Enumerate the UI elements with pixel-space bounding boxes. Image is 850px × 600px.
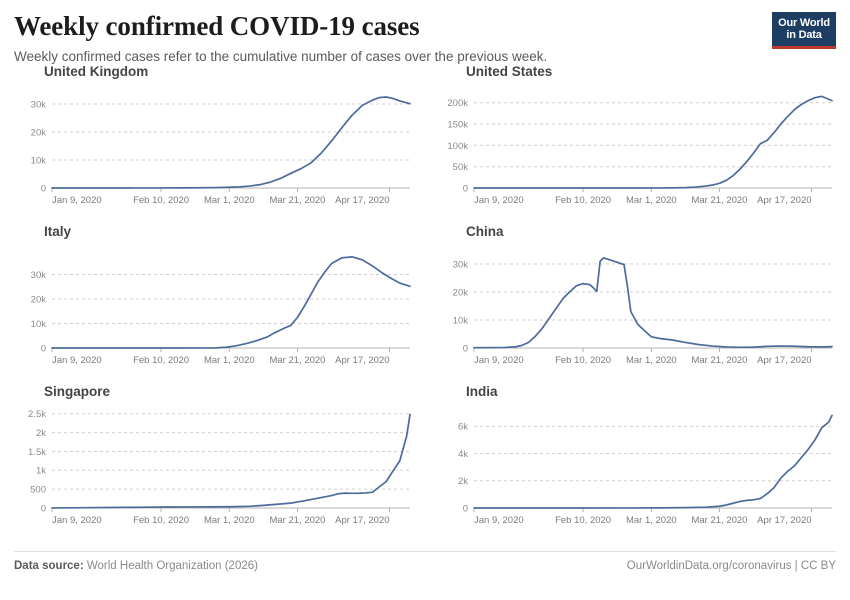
x-tick-label: Feb 10, 2020 — [133, 195, 189, 206]
y-tick-label: 6k — [458, 422, 468, 433]
series-line — [474, 97, 832, 189]
plot-area: 010k20k30kJan 9, 2020Feb 10, 2020Mar 1, … — [436, 242, 836, 370]
y-tick-label: 30k — [31, 100, 47, 111]
x-tick-label: Mar 1, 2020 — [204, 515, 255, 526]
x-tick-label: Apr 17, 2020 — [757, 515, 811, 526]
x-tick-label: Feb 10, 2020 — [133, 355, 189, 366]
chart-panel-singapore: Singapore05001k1.5k2k2.5kJan 9, 2020Feb … — [14, 384, 414, 544]
y-tick-label: 1k — [36, 466, 46, 477]
panel-title: United Kingdom — [44, 64, 414, 80]
panel-title: China — [466, 224, 836, 240]
y-tick-label: 10k — [31, 319, 47, 330]
owid-logo[interactable]: Our World in Data — [772, 12, 836, 49]
chart-panel-india: India02k4k6kJan 9, 2020Feb 10, 2020Mar 1… — [436, 384, 836, 544]
series-line — [474, 258, 832, 348]
y-tick-label: 1.5k — [28, 447, 46, 458]
y-tick-label: 500 — [30, 485, 46, 496]
x-tick-label: Mar 21, 2020 — [269, 195, 325, 206]
y-tick-label: 10k — [31, 156, 47, 167]
y-tick-label: 0 — [41, 344, 46, 355]
logo-line-2: in Data — [778, 29, 830, 45]
x-tick-label: Mar 21, 2020 — [691, 195, 747, 206]
y-tick-label: 30k — [31, 270, 47, 281]
plot-area: 02k4k6kJan 9, 2020Feb 10, 2020Mar 1, 202… — [436, 402, 836, 530]
chart-page: Weekly confirmed COVID-19 cases Weekly c… — [0, 0, 850, 600]
series-line — [52, 97, 410, 188]
chart-panel-united-kingdom: United Kingdom010k20k30kJan 9, 2020Feb 1… — [14, 64, 414, 224]
y-tick-label: 200k — [447, 98, 468, 109]
x-tick-label: Apr 17, 2020 — [757, 195, 811, 206]
chart-panel-united-states: United States050k100k150k200kJan 9, 2020… — [436, 64, 836, 224]
x-tick-label: Mar 21, 2020 — [691, 355, 747, 366]
y-tick-label: 2.5k — [28, 409, 46, 420]
x-tick-label: Mar 1, 2020 — [626, 515, 677, 526]
x-tick-label: Feb 10, 2020 — [555, 355, 611, 366]
panel-title: Singapore — [44, 384, 414, 400]
series-line — [52, 257, 410, 348]
y-tick-label: 2k — [458, 476, 468, 487]
x-tick-label: Mar 1, 2020 — [626, 195, 677, 206]
y-tick-label: 0 — [41, 184, 46, 195]
x-tick-label: Jan 9, 2020 — [474, 515, 524, 526]
panel-title: United States — [466, 64, 836, 80]
x-tick-label: Jan 9, 2020 — [52, 515, 102, 526]
y-tick-label: 10k — [453, 316, 469, 327]
plot-area: 05001k1.5k2k2.5kJan 9, 2020Feb 10, 2020M… — [14, 402, 414, 530]
series-line — [52, 415, 410, 508]
panel-title: Italy — [44, 224, 414, 240]
y-tick-label: 150k — [447, 120, 468, 131]
x-tick-label: Mar 1, 2020 — [626, 355, 677, 366]
attribution-link[interactable]: OurWorldinData.org/coronavirus | CC BY — [627, 560, 836, 572]
x-tick-label: Mar 1, 2020 — [204, 195, 255, 206]
y-tick-label: 30k — [453, 260, 469, 271]
series-line — [474, 416, 832, 509]
y-tick-label: 0 — [463, 344, 468, 355]
plot-area: 050k100k150k200kJan 9, 2020Feb 10, 2020M… — [436, 82, 836, 210]
x-tick-label: Feb 10, 2020 — [555, 195, 611, 206]
x-tick-label: Mar 21, 2020 — [691, 515, 747, 526]
x-tick-label: Feb 10, 2020 — [555, 515, 611, 526]
y-tick-label: 20k — [31, 128, 47, 139]
x-tick-label: Apr 17, 2020 — [335, 195, 389, 206]
y-tick-label: 0 — [463, 504, 468, 515]
y-tick-label: 2k — [36, 428, 46, 439]
chart-panel-italy: Italy010k20k30kJan 9, 2020Feb 10, 2020Ma… — [14, 224, 414, 384]
x-tick-label: Mar 21, 2020 — [269, 355, 325, 366]
x-tick-label: Apr 17, 2020 — [335, 515, 389, 526]
y-tick-label: 50k — [453, 162, 469, 173]
plot-area: 010k20k30kJan 9, 2020Feb 10, 2020Mar 1, … — [14, 82, 414, 210]
chart-grid: United Kingdom010k20k30kJan 9, 2020Feb 1… — [14, 64, 836, 544]
page-subtitle: Weekly confirmed cases refer to the cumu… — [14, 49, 836, 65]
y-tick-label: 0 — [41, 504, 46, 515]
data-source: Data source: World Health Organization (… — [14, 560, 258, 572]
data-source-value: World Health Organization (2026) — [84, 560, 258, 572]
y-tick-label: 0 — [463, 184, 468, 195]
x-tick-label: Apr 17, 2020 — [335, 355, 389, 366]
y-tick-label: 4k — [458, 449, 468, 460]
header: Weekly confirmed COVID-19 cases Weekly c… — [14, 0, 836, 60]
x-tick-label: Feb 10, 2020 — [133, 515, 189, 526]
footer: Data source: World Health Organization (… — [14, 551, 836, 586]
logo-line-1: Our World — [778, 17, 830, 29]
page-title: Weekly confirmed COVID-19 cases — [14, 12, 836, 42]
x-tick-label: Mar 1, 2020 — [204, 355, 255, 366]
x-tick-label: Jan 9, 2020 — [52, 195, 102, 206]
y-tick-label: 20k — [453, 288, 469, 299]
x-tick-label: Mar 21, 2020 — [269, 515, 325, 526]
data-source-label: Data source: — [14, 560, 84, 572]
x-tick-label: Apr 17, 2020 — [757, 355, 811, 366]
y-tick-label: 20k — [31, 295, 47, 306]
x-tick-label: Jan 9, 2020 — [474, 195, 524, 206]
plot-area: 010k20k30kJan 9, 2020Feb 10, 2020Mar 1, … — [14, 242, 414, 370]
panel-title: India — [466, 384, 836, 400]
y-tick-label: 100k — [447, 141, 468, 152]
x-tick-label: Jan 9, 2020 — [474, 355, 524, 366]
chart-panel-china: China010k20k30kJan 9, 2020Feb 10, 2020Ma… — [436, 224, 836, 384]
x-tick-label: Jan 9, 2020 — [52, 355, 102, 366]
